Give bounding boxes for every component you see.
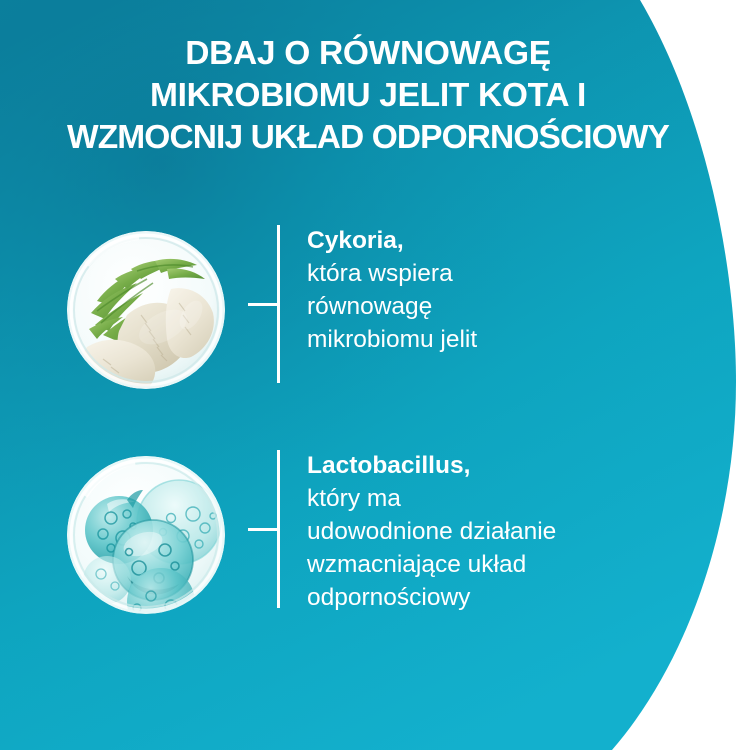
feature-line: wzmacniające układ: [307, 548, 647, 581]
connector-horizontal-tick: [248, 528, 279, 531]
feature-text-cykoria: Cykoria, która wspiera równowagę mikrobi…: [307, 224, 647, 356]
infographic-panel: DBAJ O RÓWNOWAGĘ MIKROBIOMU JELIT KOTA I…: [0, 0, 750, 750]
feature-text-lactobacillus: Lactobacillus, który ma udowodnione dzia…: [307, 449, 647, 614]
connector-line-lactobacillus: [248, 450, 282, 608]
feature-line: udowodnione działanie: [307, 515, 647, 548]
feature-title-lactobacillus: Lactobacillus,: [307, 449, 647, 482]
feature-line: który ma: [307, 482, 647, 515]
chicory-roots-petri-dish-image: [67, 231, 225, 389]
headline-line-1: DBAJ O RÓWNOWAGĘ: [0, 33, 736, 75]
headline-line-3: WZMOCNIJ UKŁAD ODPORNOŚCIOWY: [0, 117, 736, 159]
feature-line: równowagę: [307, 290, 647, 323]
feature-line: odpornościowy: [307, 581, 647, 614]
lactobacillus-gel-spheres-petri-dish-image: [67, 456, 225, 614]
connector-line-cykoria: [248, 225, 282, 383]
connector-horizontal-tick: [248, 303, 279, 306]
feature-line: która wspiera: [307, 257, 647, 290]
feature-title-cykoria: Cykoria,: [307, 224, 647, 257]
feature-line: mikrobiomu jelit: [307, 323, 647, 356]
headline: DBAJ O RÓWNOWAGĘ MIKROBIOMU JELIT KOTA I…: [0, 33, 736, 159]
headline-line-2: MIKROBIOMU JELIT KOTA I: [0, 75, 736, 117]
